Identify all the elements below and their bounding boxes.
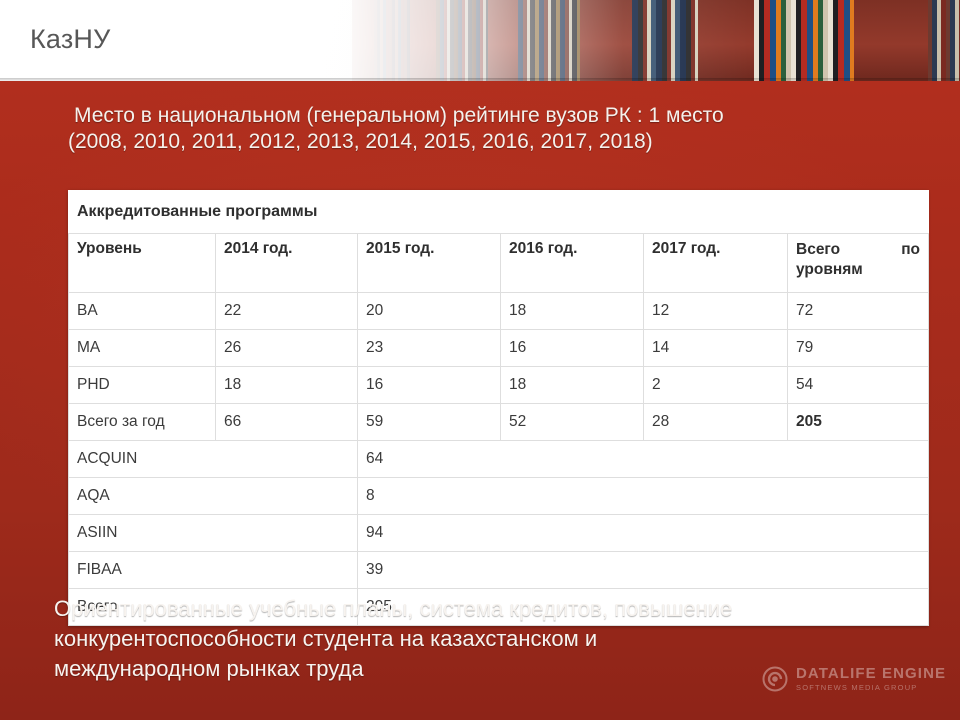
agency-label: ASIIN [69,515,358,552]
slide-canvas: КазНУ Место в национальном (генеральном)… [0,0,960,720]
column-header-total-by-level: Всего по уровням [788,234,929,293]
cell-total: 79 [788,330,929,367]
cell-2016: 52 [501,404,644,441]
photo-shelf-3 [518,0,580,81]
cell-2016: 18 [501,367,644,404]
agency-value: 94 [358,515,929,552]
library-bookshelf-photo [0,0,960,81]
cell-total: 72 [788,293,929,330]
photo-shelf-5 [754,0,854,81]
bottom-caption: Ориентированные учебные планы, система к… [54,594,754,684]
agency-value: 8 [358,478,929,515]
table-row: BA 22 20 18 12 72 [69,293,929,330]
accredited-programs-table: Аккредитованные программы Уровень 2014 г… [68,190,929,626]
table-row-agency: ACQUIN 64 [69,441,929,478]
cell-2015: 23 [358,330,501,367]
photo-shelf-1 [374,0,410,81]
column-header-2016: 2016 год. [501,234,644,293]
page-title: КазНУ [30,24,110,55]
photo-wall-2 [410,0,436,81]
cell-grand-total: 205 [788,404,929,441]
photo-wall-4 [580,0,632,81]
column-header-2015: 2015 год. [358,234,501,293]
agency-value: 39 [358,552,929,589]
agency-label: AQA [69,478,358,515]
row-label: BA [69,293,216,330]
photo-shelf-2 [436,0,488,81]
cell-2014: 22 [216,293,358,330]
cell-2015: 16 [358,367,501,404]
table-row-agency: ASIIN 94 [69,515,929,552]
table-row-agency: AQA 8 [69,478,929,515]
cell-2017: 2 [644,367,788,404]
column-header-level: Уровень [69,234,216,293]
table-row: PHD 18 16 18 2 54 [69,367,929,404]
cell-2015: 20 [358,293,501,330]
table-header-row: Уровень 2014 год. 2015 год. 2016 год. 20… [69,234,929,293]
photo-shelf-4 [632,0,698,81]
photo-wall-1 [352,0,374,81]
row-label: MA [69,330,216,367]
cell-2015: 59 [358,404,501,441]
headline-line-1: Место в национальном (генеральном) рейти… [68,103,930,129]
agency-label: ACQUIN [69,441,358,478]
table-row-total-per-year: Всего за год 66 59 52 28 205 [69,404,929,441]
header-photo-band [0,0,960,81]
photo-wall-5 [698,0,754,81]
table-caption-row: Аккредитованные программы [69,191,929,234]
cell-2014: 66 [216,404,358,441]
table-caption: Аккредитованные программы [69,191,929,234]
table-row: MA 26 23 16 14 79 [69,330,929,367]
photo-wall-6 [854,0,928,81]
row-label: PHD [69,367,216,404]
cell-2017: 12 [644,293,788,330]
agency-label: FIBAA [69,552,358,589]
agency-value: 64 [358,441,929,478]
cell-2017: 14 [644,330,788,367]
headline-line-2: (2008, 2010, 2011, 2012, 2013, 2014, 201… [68,129,930,155]
photo-wall-3 [488,0,518,81]
photo-shelf-6 [928,0,960,81]
row-label: Всего за год [69,404,216,441]
column-header-2014: 2014 год. [216,234,358,293]
cell-2016: 16 [501,330,644,367]
column-header-2017: 2017 год. [644,234,788,293]
accredited-programs-table-wrapper: Аккредитованные программы Уровень 2014 г… [68,190,928,626]
cell-2017: 28 [644,404,788,441]
cell-2016: 18 [501,293,644,330]
cell-2014: 26 [216,330,358,367]
table-row-agency: FIBAA 39 [69,552,929,589]
headline-text: Место в национальном (генеральном) рейти… [68,103,930,155]
header-band-shadow [0,78,960,81]
cell-total: 54 [788,367,929,404]
cell-2014: 18 [216,367,358,404]
